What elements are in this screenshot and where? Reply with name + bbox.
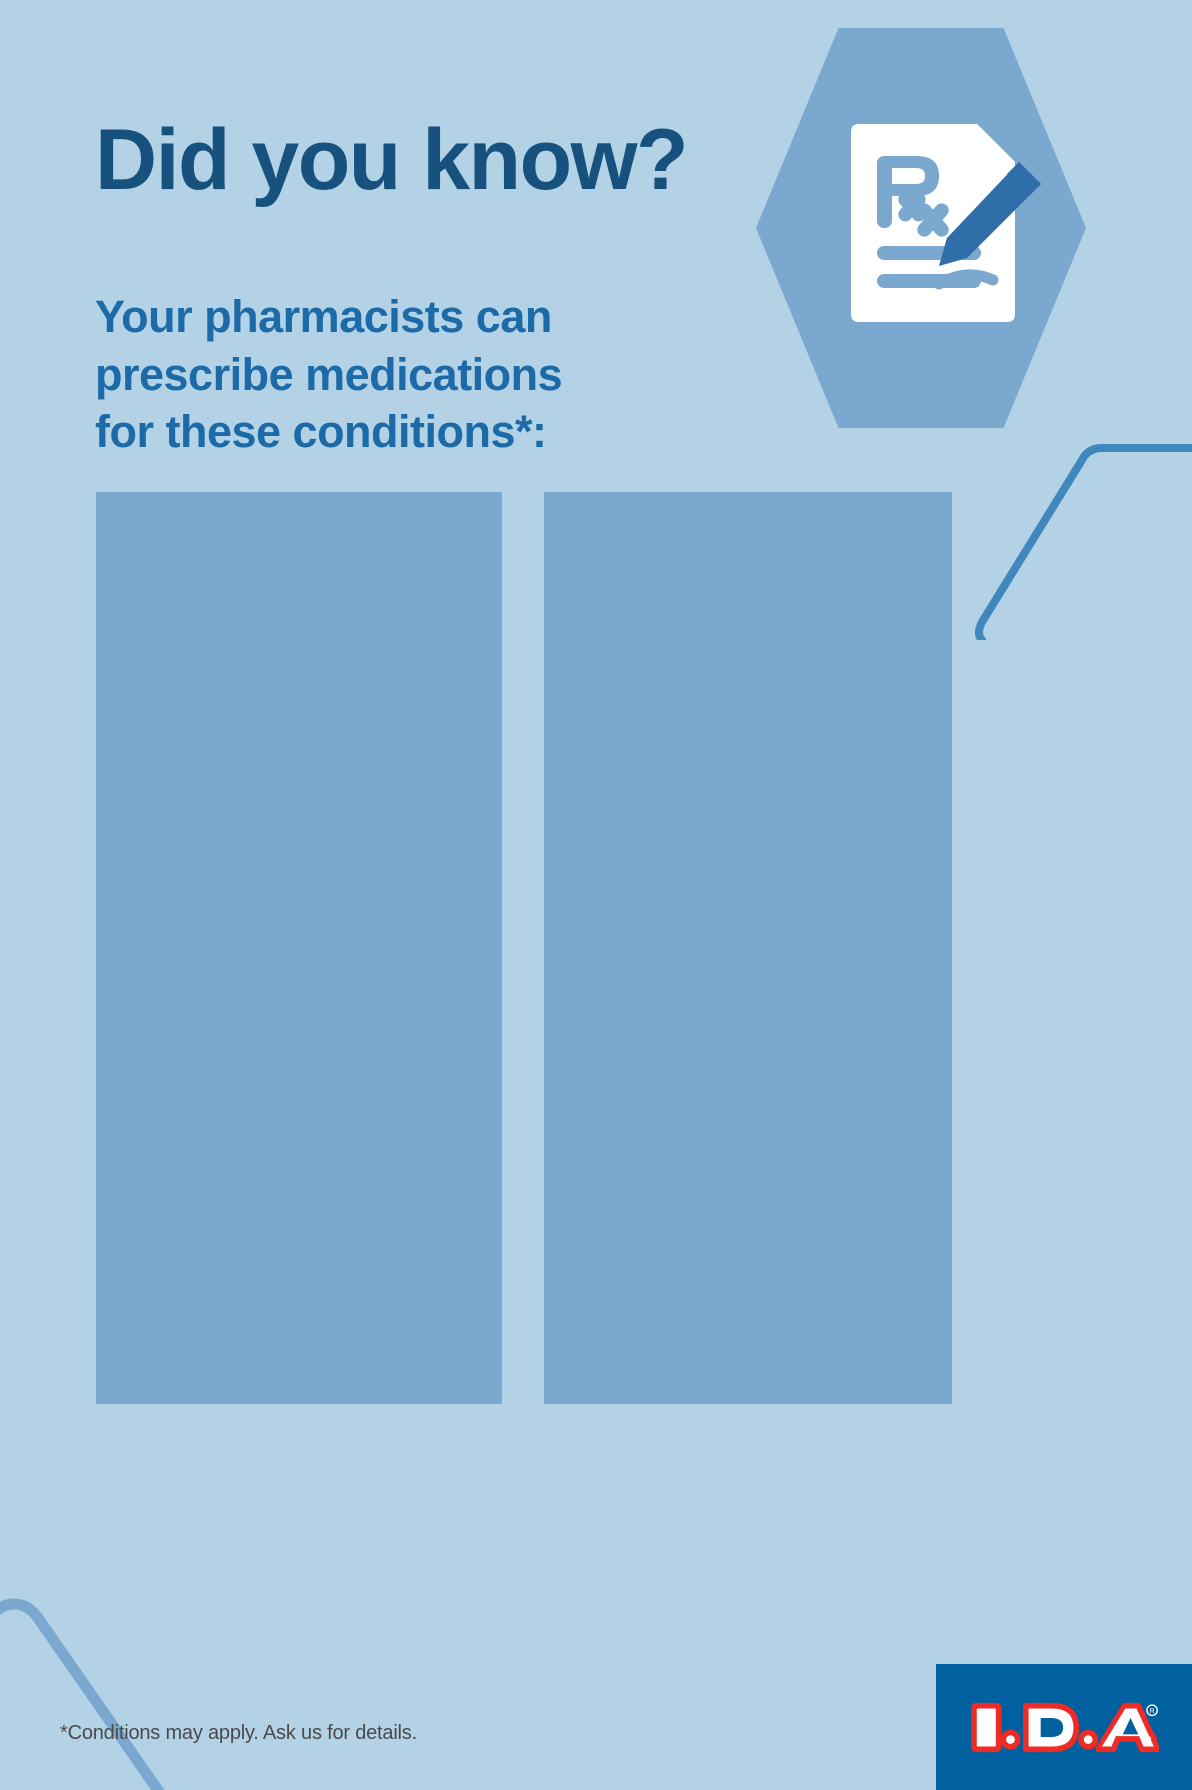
poster-canvas: Did you know? Your pharmacists can presc… [0,0,1192,1790]
page-subtitle: Your pharmacists can prescribe medicatio… [95,288,562,461]
hexagon-outline-bottom-icon [0,1586,330,1790]
condition-columns [96,492,952,1404]
hexagon-outline-icon [962,440,1192,640]
footnote-text: *Conditions may apply. Ask us for detail… [60,1722,417,1745]
svg-text:R: R [1150,1707,1155,1714]
page-title: Did you know? [95,118,687,202]
left-condition-panel [96,492,502,1404]
registered-mark-icon: R [1147,1705,1157,1715]
right-condition-panel [544,492,952,1404]
rx-prescription-icon [843,118,1053,328]
ida-logo-mark: R [969,1699,1159,1756]
ida-logo: R [936,1664,1192,1790]
